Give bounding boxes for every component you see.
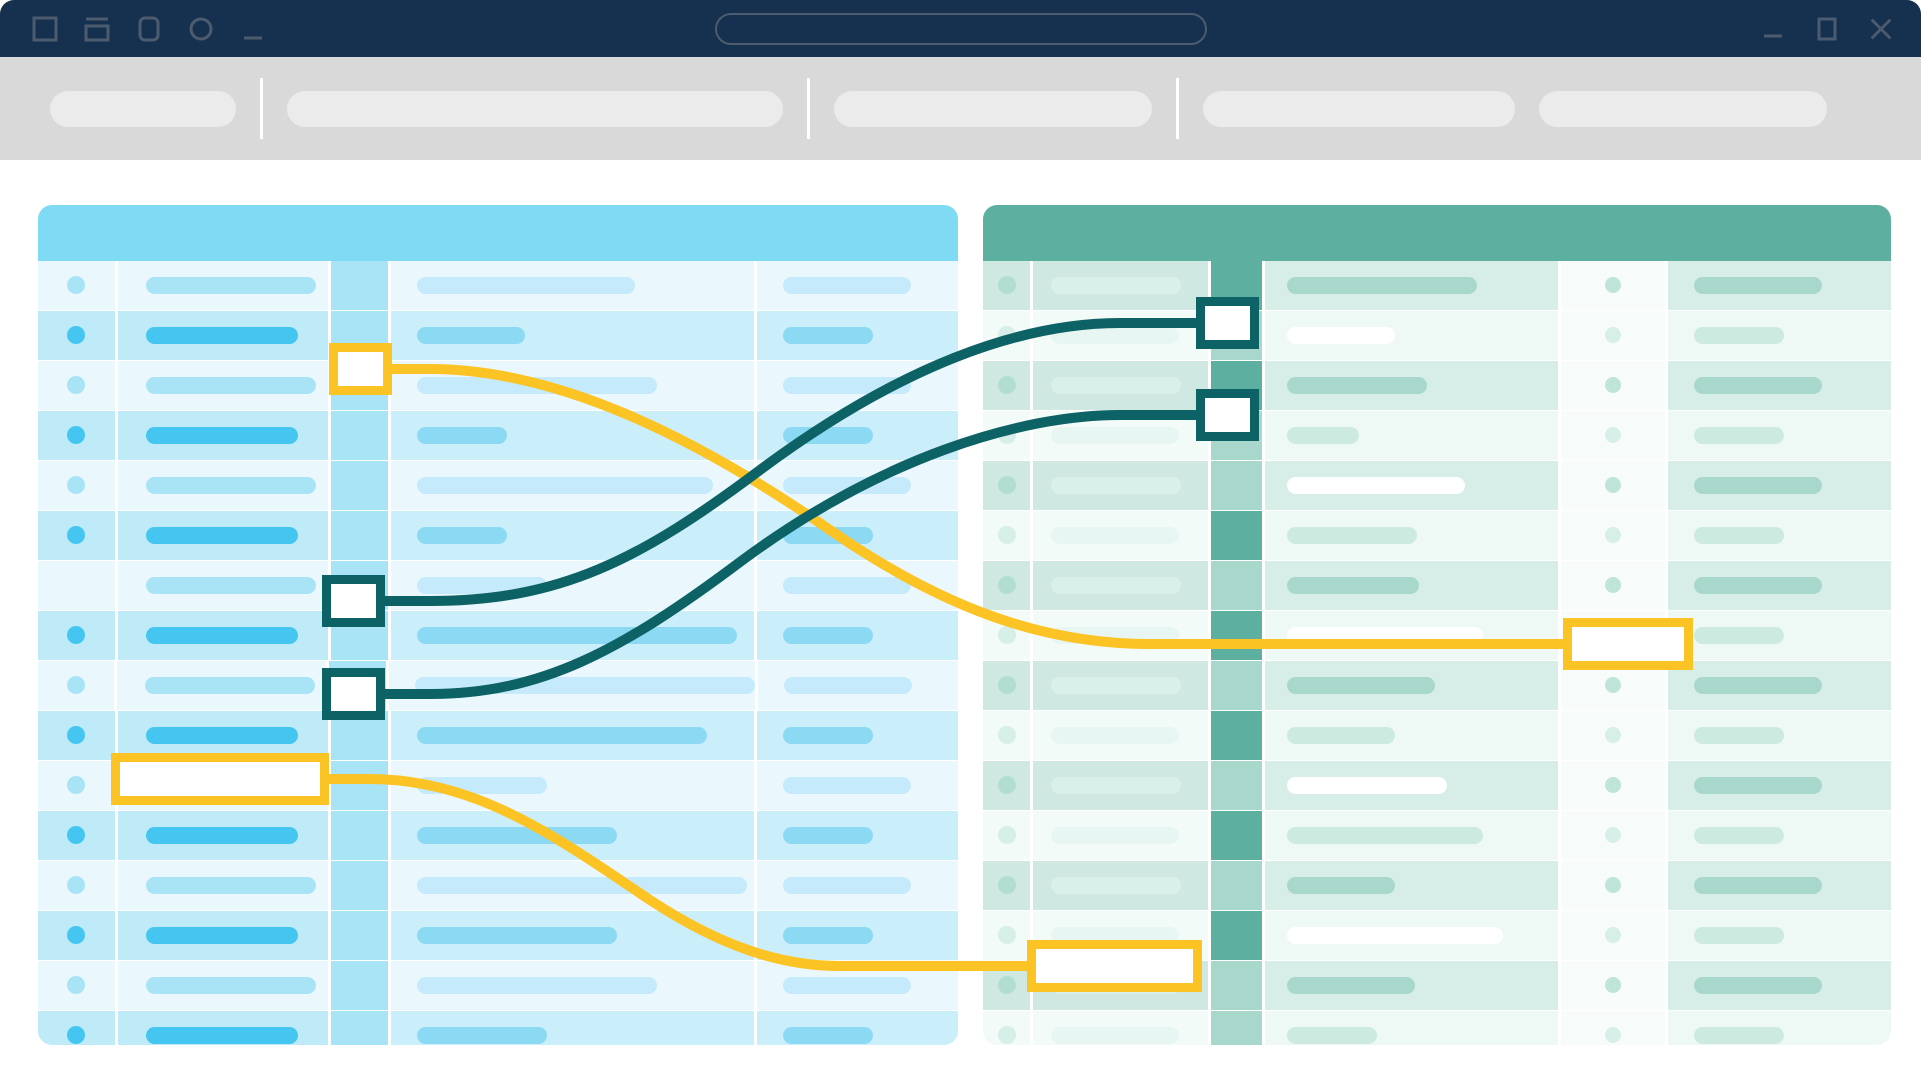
status-dot-cell (38, 261, 115, 310)
label-bar (1051, 827, 1179, 844)
meta-bar (1694, 777, 1822, 794)
status-dot-icon (67, 626, 85, 644)
label-cell (118, 861, 328, 910)
meta-cell (1668, 361, 1891, 410)
table-row[interactable] (38, 311, 958, 360)
status-dot-icon (998, 876, 1016, 894)
status-dot-cell (983, 511, 1030, 560)
meta-bar (783, 277, 911, 294)
label-cell (118, 361, 328, 410)
content-cell (391, 861, 753, 910)
content-bar (1287, 677, 1435, 694)
meta-cell (1668, 511, 1891, 560)
status-dot-cell (38, 761, 115, 810)
status-dot-cell (38, 811, 115, 860)
label-bar (146, 327, 298, 344)
status-dot-cell (38, 711, 115, 760)
label-cell (1033, 661, 1208, 710)
label-bar (1051, 527, 1179, 544)
meta-bar (783, 377, 911, 394)
split-panel-icon[interactable] (82, 14, 112, 44)
table-row[interactable] (38, 411, 958, 460)
meta-bar (783, 327, 873, 344)
label-cell (118, 911, 328, 960)
table-row[interactable] (983, 311, 1891, 360)
content-bar (1287, 527, 1417, 544)
minimize-button[interactable] (1759, 15, 1787, 43)
status-dot-icon (998, 276, 1016, 294)
marker-cell[interactable] (1211, 761, 1262, 810)
meta-bar (1694, 877, 1822, 894)
table-row[interactable] (983, 261, 1891, 310)
label-cell (118, 411, 328, 460)
table-row[interactable] (983, 1011, 1891, 1045)
highlight-box-left-wide[interactable] (111, 753, 329, 805)
marker-cell[interactable] (331, 261, 388, 310)
toolbar-divider (260, 78, 263, 139)
marker-cell[interactable] (1211, 661, 1262, 710)
content-bar (417, 327, 525, 344)
meta-bar (1694, 377, 1822, 394)
label-bar (1051, 577, 1181, 594)
marker-cell[interactable] (1211, 961, 1262, 1010)
indicator-cell (1561, 411, 1664, 460)
content-bar (417, 627, 737, 644)
indicator-dot-icon (1605, 977, 1621, 993)
rounded-square-icon[interactable] (134, 14, 164, 44)
label-cell (1033, 761, 1208, 810)
content-bar (1287, 577, 1419, 594)
label-bar (146, 977, 316, 994)
content-cell (1265, 961, 1558, 1010)
highlight-box-left-teal-a[interactable] (322, 575, 385, 627)
content-bar (417, 427, 507, 444)
label-cell (117, 661, 326, 710)
indicator-dot-icon (1605, 477, 1621, 493)
marker-cell[interactable] (1211, 461, 1262, 510)
highlight-box-right-wide-a[interactable] (1563, 618, 1693, 670)
content-cell (1265, 461, 1558, 510)
status-dot-icon (998, 576, 1016, 594)
content-bar (1287, 277, 1477, 294)
status-dot-icon (998, 976, 1016, 994)
status-dot-cell (983, 711, 1030, 760)
indicator-cell (1561, 561, 1664, 610)
content-cell (391, 811, 753, 860)
label-bar (146, 377, 316, 394)
status-dot-icon (998, 426, 1016, 444)
toolbar-pill[interactable] (287, 91, 783, 127)
label-bar (1051, 627, 1179, 644)
label-bar (146, 727, 298, 744)
content-cell (391, 911, 753, 960)
label-bar (146, 277, 316, 294)
content-bar (1287, 827, 1483, 844)
indicator-dot-icon (1605, 1027, 1621, 1043)
meta-cell (1668, 561, 1891, 610)
meta-cell (757, 711, 958, 760)
table-row[interactable] (38, 911, 958, 960)
table-row[interactable] (38, 661, 958, 710)
app-root (0, 0, 1921, 1081)
indicator-cell (1561, 961, 1664, 1010)
label-bar (1051, 877, 1181, 894)
address-search-input[interactable] (715, 13, 1207, 45)
status-dot-icon (998, 926, 1016, 944)
status-dot-icon (998, 776, 1016, 794)
meta-bar (1694, 827, 1784, 844)
label-cell (1033, 461, 1208, 510)
content-bar (417, 377, 657, 394)
status-dot-icon (998, 326, 1016, 344)
meta-bar (1694, 327, 1784, 344)
indicator-cell (1561, 261, 1664, 310)
left-panel-rows (38, 261, 958, 1045)
meta-bar (783, 627, 873, 644)
meta-cell (1668, 911, 1891, 960)
marker-cell[interactable] (1211, 611, 1262, 660)
table-row[interactable] (38, 511, 958, 560)
label-cell (1033, 861, 1208, 910)
label-bar (146, 627, 298, 644)
content-cell (1265, 511, 1558, 560)
content-cell (1265, 811, 1558, 860)
table-row[interactable] (983, 661, 1891, 710)
highlight-box-right-teal-a[interactable] (1196, 297, 1259, 349)
meta-bar (783, 477, 911, 494)
table-row[interactable] (38, 611, 958, 660)
table-row[interactable] (38, 361, 958, 410)
meta-cell (757, 511, 958, 560)
label-bar (1051, 427, 1179, 444)
label-bar (1051, 477, 1181, 494)
label-cell (1033, 811, 1208, 860)
indicator-cell (1561, 861, 1664, 910)
content-cell (1265, 311, 1558, 360)
status-dot-icon (998, 376, 1016, 394)
left-panel-header (38, 205, 958, 261)
content-bar (1287, 877, 1395, 894)
label-cell (118, 561, 328, 610)
close-button[interactable] (1867, 15, 1895, 43)
status-dot-icon (998, 476, 1016, 494)
meta-cell (757, 261, 958, 310)
meta-cell (757, 361, 958, 410)
right-panel-rows (983, 261, 1891, 1045)
status-dot-cell (38, 961, 115, 1010)
content-cell (1265, 911, 1558, 960)
status-dot-cell (38, 511, 115, 560)
status-dot-icon (67, 526, 85, 544)
omnibox-container (715, 13, 1207, 45)
meta-bar (784, 677, 912, 694)
status-dot-cell (38, 611, 115, 660)
content-bar (417, 527, 507, 544)
label-cell (118, 261, 328, 310)
window-controls (1759, 15, 1895, 43)
meta-cell (757, 861, 958, 910)
indicator-dot-icon (1605, 927, 1621, 943)
content-bar (1287, 977, 1415, 994)
content-bar (1287, 777, 1447, 794)
meta-cell (757, 911, 958, 960)
indicator-cell (1561, 461, 1664, 510)
meta-cell (1668, 761, 1891, 810)
meta-bar (783, 1027, 873, 1044)
marker-cell[interactable] (331, 411, 388, 460)
content-bar (417, 927, 617, 944)
indicator-dot-icon (1605, 727, 1621, 743)
marker-cell[interactable] (331, 811, 388, 860)
status-dot-icon (67, 426, 85, 444)
table-row[interactable] (38, 461, 958, 510)
content-cell (1265, 611, 1558, 660)
marker-cell[interactable] (331, 461, 388, 510)
indicator-cell (1561, 511, 1664, 560)
meta-bar (1694, 277, 1822, 294)
meta-bar (1694, 677, 1822, 694)
content-cell (391, 711, 753, 760)
label-bar (146, 577, 316, 594)
status-dot-icon (67, 926, 85, 944)
table-row[interactable] (38, 811, 958, 860)
label-bar (1051, 377, 1181, 394)
dash-icon[interactable] (238, 14, 268, 44)
indicator-cell (1561, 761, 1664, 810)
meta-cell (1668, 461, 1891, 510)
table-row[interactable] (983, 611, 1891, 660)
label-cell (118, 611, 328, 660)
right-panel-header (983, 205, 1891, 261)
status-dot-cell (983, 261, 1030, 310)
marker-cell[interactable] (1211, 811, 1262, 860)
meta-cell (1668, 811, 1891, 860)
content-bar (1287, 927, 1503, 944)
marker-cell[interactable] (331, 761, 388, 810)
highlight-box-right-teal-b[interactable] (1196, 389, 1259, 441)
label-cell (1033, 711, 1208, 760)
content-cell (391, 361, 753, 410)
status-dot-icon (67, 376, 85, 394)
status-dot-cell (38, 561, 115, 610)
table-row[interactable] (983, 411, 1891, 460)
indicator-dot-icon (1605, 827, 1621, 843)
indicator-dot-icon (1605, 377, 1621, 393)
marker-cell[interactable] (1211, 911, 1262, 960)
meta-bar (783, 527, 873, 544)
content-cell (391, 311, 753, 360)
meta-cell (1668, 661, 1891, 710)
meta-bar (783, 877, 911, 894)
toolbar (0, 57, 1921, 160)
meta-bar (1694, 927, 1784, 944)
status-dot-cell (983, 661, 1030, 710)
content-cell (1265, 261, 1558, 310)
content-cell (1265, 1011, 1558, 1045)
marker-cell[interactable] (331, 511, 388, 560)
status-dot-cell (38, 361, 115, 410)
status-dot-icon (67, 1026, 85, 1044)
meta-cell (1668, 261, 1891, 310)
content-bar (1287, 727, 1395, 744)
label-cell (1033, 1011, 1208, 1045)
label-bar (1051, 777, 1181, 794)
meta-cell (1668, 411, 1891, 460)
meta-bar (783, 727, 873, 744)
marker-cell[interactable] (1211, 711, 1262, 760)
content-cell (391, 461, 753, 510)
content-bar (417, 877, 747, 894)
status-dot-icon (67, 676, 85, 694)
meta-cell (1668, 711, 1891, 760)
right-table-panel[interactable] (983, 205, 1891, 1045)
status-dot-icon (67, 326, 85, 344)
meta-bar (1694, 577, 1822, 594)
meta-cell (757, 411, 958, 460)
meta-cell (757, 311, 958, 360)
toolbar-divider (1176, 78, 1179, 139)
status-dot-cell (983, 811, 1030, 860)
content-cell (1265, 661, 1558, 710)
indicator-cell (1561, 711, 1664, 760)
table-row[interactable] (38, 261, 958, 310)
meta-cell (1668, 1011, 1891, 1045)
label-cell (1033, 311, 1208, 360)
toolbar-pill[interactable] (50, 91, 236, 127)
window-titlebar (0, 0, 1921, 57)
left-table-panel[interactable] (38, 205, 958, 1045)
table-row[interactable] (983, 711, 1891, 760)
marker-cell[interactable] (1211, 511, 1262, 560)
meta-bar (1694, 427, 1784, 444)
content-bar (1287, 327, 1395, 344)
content-cell (389, 661, 755, 710)
label-bar (146, 477, 316, 494)
label-cell (118, 1011, 328, 1045)
indicator-dot-icon (1605, 877, 1621, 893)
content-bar (417, 577, 547, 594)
indicator-cell (1561, 1011, 1664, 1045)
highlight-box-left-teal-b[interactable] (322, 668, 385, 720)
status-dot-cell (983, 561, 1030, 610)
titlebar-icon-group (30, 14, 268, 44)
indicator-cell (1561, 361, 1664, 410)
meta-cell (758, 661, 958, 710)
indicator-dot-icon (1605, 327, 1621, 343)
status-dot-icon (67, 876, 85, 894)
meta-bar (783, 777, 911, 794)
toolbar-pill[interactable] (834, 91, 1152, 127)
status-dot-cell (38, 1011, 115, 1045)
content-cell (391, 411, 753, 460)
content-bar (415, 677, 755, 694)
table-row[interactable] (983, 811, 1891, 860)
status-dot-cell (38, 861, 115, 910)
status-dot-cell (983, 611, 1030, 660)
highlight-box-left-marker-a[interactable] (329, 343, 392, 395)
indicator-cell (1561, 811, 1664, 860)
table-row[interactable] (983, 511, 1891, 560)
status-dot-cell (38, 911, 115, 960)
label-bar (146, 1027, 298, 1044)
marker-cell[interactable] (1211, 861, 1262, 910)
square-icon[interactable] (30, 14, 60, 44)
content-cell (391, 1011, 753, 1045)
label-cell (118, 811, 328, 860)
indicator-dot-icon (1605, 677, 1621, 693)
meta-bar (1694, 1027, 1784, 1044)
meta-cell (757, 811, 958, 860)
meta-bar (783, 427, 873, 444)
table-row[interactable] (983, 461, 1891, 510)
maximize-button[interactable] (1813, 15, 1841, 43)
status-dot-cell (983, 361, 1030, 410)
toolbar-pill[interactable] (1539, 91, 1827, 127)
content-bar (417, 277, 635, 294)
label-cell (118, 511, 328, 560)
status-dot-cell (983, 861, 1030, 910)
label-bar (146, 827, 298, 844)
status-dot-cell (983, 911, 1030, 960)
table-row[interactable] (983, 861, 1891, 910)
content-cell (1265, 361, 1558, 410)
meta-cell (1668, 311, 1891, 360)
table-row[interactable] (38, 561, 958, 610)
meta-bar (1694, 527, 1784, 544)
highlight-box-right-wide-b[interactable] (1027, 940, 1202, 992)
label-bar (146, 427, 298, 444)
meta-bar (783, 827, 873, 844)
label-bar (1051, 727, 1179, 744)
marker-cell[interactable] (331, 861, 388, 910)
status-dot-cell (983, 461, 1030, 510)
meta-cell (757, 561, 958, 610)
meta-bar (1694, 477, 1822, 494)
marker-cell[interactable] (331, 911, 388, 960)
table-row[interactable] (38, 861, 958, 910)
meta-bar (783, 927, 873, 944)
content-bar (417, 777, 547, 794)
table-row[interactable] (38, 1011, 958, 1045)
marker-cell[interactable] (1211, 1011, 1262, 1045)
circle-icon[interactable] (186, 14, 216, 44)
status-dot-icon (998, 676, 1016, 694)
label-bar (146, 877, 316, 894)
content-bar (417, 977, 657, 994)
meta-cell (757, 761, 958, 810)
content-cell (1265, 561, 1558, 610)
status-dot-cell (983, 961, 1030, 1010)
indicator-dot-icon (1605, 577, 1621, 593)
content-bar (417, 827, 617, 844)
meta-cell (757, 1011, 958, 1045)
marker-cell[interactable] (331, 961, 388, 1010)
table-row[interactable] (38, 961, 958, 1010)
meta-cell (757, 961, 958, 1010)
toolbar-pill[interactable] (1203, 91, 1515, 127)
status-dot-cell (983, 411, 1030, 460)
status-dot-icon (998, 626, 1016, 644)
indicator-dot-icon (1605, 427, 1621, 443)
table-row[interactable] (983, 361, 1891, 410)
marker-cell[interactable] (331, 1011, 388, 1045)
table-row[interactable] (983, 561, 1891, 610)
marker-cell[interactable] (1211, 561, 1262, 610)
status-dot-cell (38, 461, 115, 510)
content-bar (1287, 1027, 1377, 1044)
label-cell (1033, 261, 1208, 310)
table-row[interactable] (983, 761, 1891, 810)
